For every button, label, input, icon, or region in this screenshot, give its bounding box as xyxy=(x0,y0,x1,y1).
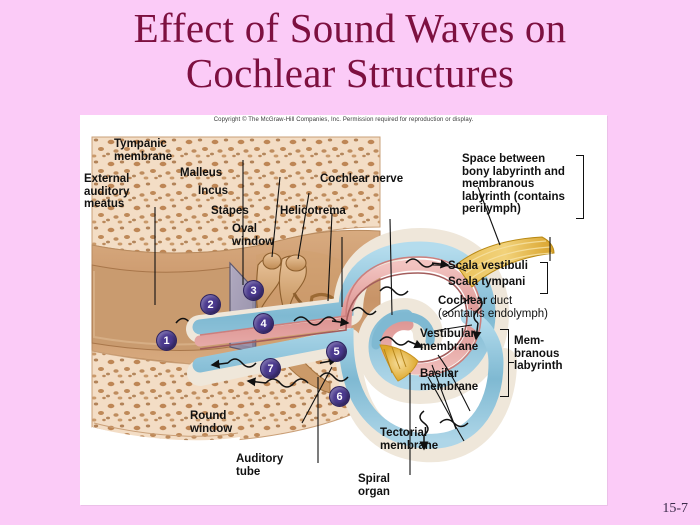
slide: Effect of Sound Waves on Cochlear Struct… xyxy=(0,0,700,525)
title-line-1: Effect of Sound Waves on xyxy=(134,5,567,51)
bracket-perilymph xyxy=(576,155,584,219)
label-stapes: Stapes xyxy=(211,205,249,218)
step-marker-7: 7 xyxy=(260,358,281,379)
label-membranous-labyrinth: Mem- branous labyrinth xyxy=(514,335,563,373)
label-auditory-tube: Auditory tube xyxy=(236,453,283,478)
title-line-2: Cochlear Structures xyxy=(0,51,700,96)
label-round-window: Round window xyxy=(190,410,232,435)
label-tectorial-membrane: Tectorial membrane xyxy=(380,427,438,452)
label-cochlear-duct-bold: Cochlear xyxy=(438,295,487,307)
step-marker-3: 3 xyxy=(243,280,264,301)
slide-number: 15-7 xyxy=(662,501,688,517)
label-cochlear-duct: Cochlear duct (contains endolymph) xyxy=(438,295,548,320)
step-marker-6: 6 xyxy=(329,386,350,407)
page-title: Effect of Sound Waves on Cochlear Struct… xyxy=(0,6,700,96)
step-marker-4: 4 xyxy=(253,313,274,334)
step-marker-2: 2 xyxy=(200,294,221,315)
label-malleus: Malleus xyxy=(180,167,222,180)
label-helicotrema: Helicotrema xyxy=(280,205,346,218)
bracket-scalae xyxy=(540,262,548,294)
label-oval-window: Oval window xyxy=(232,223,274,248)
label-incus: Incus xyxy=(198,185,228,198)
label-space-between-labyrinths: Space between bony labyrinth and membran… xyxy=(462,153,565,216)
figure-panel: Copyright © The McGraw-Hill Companies, I… xyxy=(80,115,607,505)
label-spiral-organ: Spiral organ xyxy=(358,473,390,498)
label-cochlear-nerve: Cochlear nerve xyxy=(320,173,403,186)
label-scala-vestibuli: Scala vestibuli xyxy=(448,260,528,273)
label-tympanic-membrane: Tympanic membrane xyxy=(114,138,172,163)
step-marker-1: 1 xyxy=(156,330,177,351)
label-basilar-membrane: Basilar membrane xyxy=(420,368,478,393)
bracket-membranous-labyrinth-stem xyxy=(508,362,514,363)
label-scala-tympani: Scala tympani xyxy=(448,276,525,289)
label-external-auditory-meatus: External auditory meatus xyxy=(84,173,129,211)
label-vestibular-membrane: Vestibular membrane xyxy=(420,328,478,353)
bracket-membranous-labyrinth xyxy=(500,329,509,397)
step-marker-5: 5 xyxy=(326,341,347,362)
